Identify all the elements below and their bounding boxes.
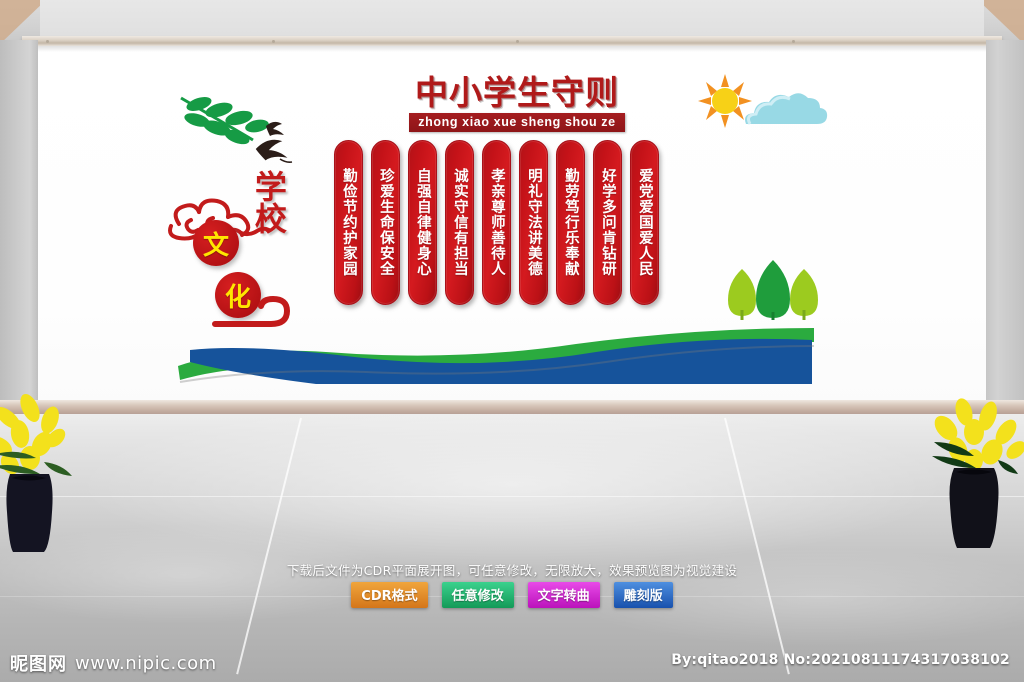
rule-capsule-text: 勤俭节约护家园 bbox=[340, 168, 357, 277]
wall-base-trim bbox=[0, 400, 1024, 414]
badge-text-curves[interactable]: 文字转曲 bbox=[528, 582, 600, 608]
poster-title-block: 中小学生守则 zhong xiao xue sheng shou ze bbox=[392, 76, 642, 132]
site-logo-text: 昵图网 bbox=[10, 650, 67, 676]
rule-capsule-text: 诚实守信有担当 bbox=[451, 168, 468, 277]
tree-dark-center bbox=[756, 260, 790, 320]
rule-capsule[interactable]: 勤劳笃行乐奉献 bbox=[556, 140, 585, 305]
poster-title-pinyin: zhong xiao xue sheng shou ze bbox=[409, 113, 624, 132]
site-watermark: 昵图网 www.nipic.com bbox=[10, 650, 217, 676]
wave-ribbon-decoration bbox=[176, 322, 816, 397]
floor-tile-seam bbox=[0, 496, 1024, 497]
vase-body-left bbox=[6, 474, 52, 552]
rule-capsule-row: 勤俭节约护家园 珍爱生命保安全 自强自律健身心 诚实守信有担当 孝亲尊师善待人 … bbox=[334, 140, 659, 305]
school-culture-emblem: 学校 文 化 bbox=[165, 92, 335, 332]
rule-capsule[interactable]: 好学多问肯钻研 bbox=[593, 140, 622, 305]
tree-cluster-decoration bbox=[722, 254, 824, 325]
author-credit: By:qitao2018 No:20210811174317038102 bbox=[671, 652, 1010, 668]
poster-title-chinese: 中小学生守则 bbox=[392, 76, 642, 109]
rule-capsule-text: 爱党爱国爱人民 bbox=[636, 168, 653, 277]
rule-capsule[interactable]: 明礼守法讲美德 bbox=[519, 140, 548, 305]
cloud-icon bbox=[745, 93, 827, 124]
ceiling-rail bbox=[22, 36, 1002, 46]
rule-capsule[interactable]: 勤俭节约护家园 bbox=[334, 140, 363, 305]
swallow-birds-icon bbox=[250, 114, 312, 170]
feature-badge-row: CDR格式 任意修改 文字转曲 雕刻版 bbox=[0, 582, 1024, 608]
rule-capsule-text: 孝亲尊师善待人 bbox=[488, 168, 505, 277]
badge-cdr-format[interactable]: CDR格式 bbox=[351, 582, 427, 608]
rule-capsule-text: 珍爱生命保安全 bbox=[377, 168, 394, 277]
sun-cloud-decoration bbox=[698, 74, 828, 136]
rule-capsule[interactable]: 爱党爱国爱人民 bbox=[630, 140, 659, 305]
rule-capsule-text: 自强自律健身心 bbox=[414, 168, 431, 277]
emblem-circle-wen: 文 bbox=[193, 220, 239, 266]
floor-highlight bbox=[0, 400, 1024, 682]
floor bbox=[0, 400, 1024, 682]
rule-capsule[interactable]: 自强自律健身心 bbox=[408, 140, 437, 305]
rule-capsule[interactable]: 珍爱生命保安全 bbox=[371, 140, 400, 305]
rule-capsule-text: 好学多问肯钻研 bbox=[599, 168, 616, 277]
wall-pilaster-right bbox=[986, 40, 1024, 412]
site-url-text: www.nipic.com bbox=[75, 653, 217, 674]
soffit-face bbox=[40, 0, 984, 40]
rule-capsule-text: 明礼守法讲美德 bbox=[525, 168, 542, 277]
wall-top-shadow bbox=[36, 46, 988, 52]
badge-editable[interactable]: 任意修改 bbox=[442, 582, 514, 608]
tree-light-right bbox=[790, 269, 818, 320]
flower-vase-right bbox=[928, 398, 1024, 553]
badge-engraved-version[interactable]: 雕刻版 bbox=[614, 582, 673, 608]
download-caption: 下载后文件为CDR平面展开图，可任意修改，无限放大，效果预览图为视觉建设 bbox=[0, 560, 1024, 579]
rule-capsule[interactable]: 诚实守信有担当 bbox=[445, 140, 474, 305]
rule-capsule-text: 勤劳笃行乐奉献 bbox=[562, 168, 579, 277]
rule-capsule[interactable]: 孝亲尊师善待人 bbox=[482, 140, 511, 305]
vase-body-right bbox=[950, 468, 999, 548]
emblem-circle-wen-text: 文 bbox=[203, 225, 229, 262]
wall-pilaster-left bbox=[0, 40, 38, 412]
yellow-flowers-left bbox=[0, 392, 69, 478]
flower-vase-left bbox=[0, 392, 102, 557]
sun-icon bbox=[698, 74, 752, 128]
tree-light-left bbox=[728, 269, 756, 320]
screenshot-stage: 中小学生守则 zhong xiao xue sheng shou ze 勤俭节约… bbox=[0, 0, 1024, 682]
